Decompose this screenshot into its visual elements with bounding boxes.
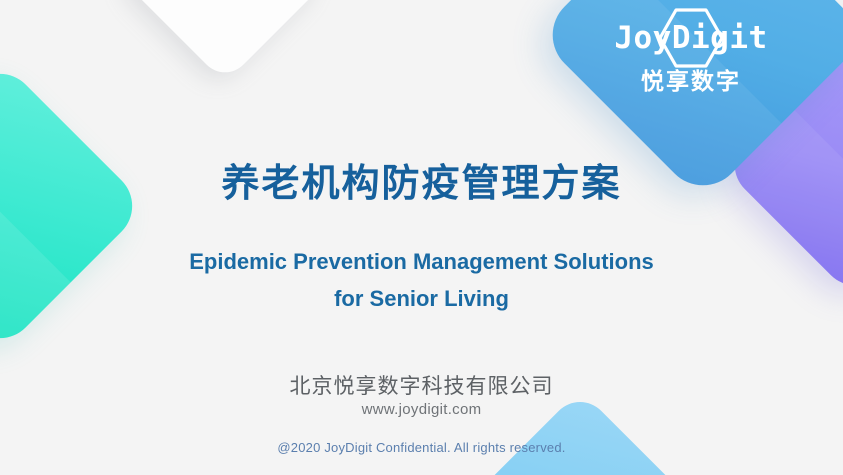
slide-title-chinese: 养老机构防疫管理方案	[0, 152, 843, 207]
slide-content: 养老机构防疫管理方案 Epidemic Prevention Managemen…	[0, 0, 843, 475]
company-name-chinese: 北京悦享数字科技有限公司	[0, 370, 843, 400]
company-website[interactable]: www.joydigit.com	[0, 401, 843, 418]
subtitle-line-1: Epidemic Prevention Management Solutions	[0, 243, 843, 280]
subtitle-line-2: for Senior Living	[0, 280, 843, 317]
copyright-notice: @2020 JoyDigit Confidential. All rights …	[0, 440, 843, 455]
presentation-slide: JoyDigit 悦享数字 养老机构防疫管理方案 Epidemic Preven…	[0, 0, 843, 475]
slide-subtitle-english: Epidemic Prevention Management Solutions…	[0, 243, 843, 317]
